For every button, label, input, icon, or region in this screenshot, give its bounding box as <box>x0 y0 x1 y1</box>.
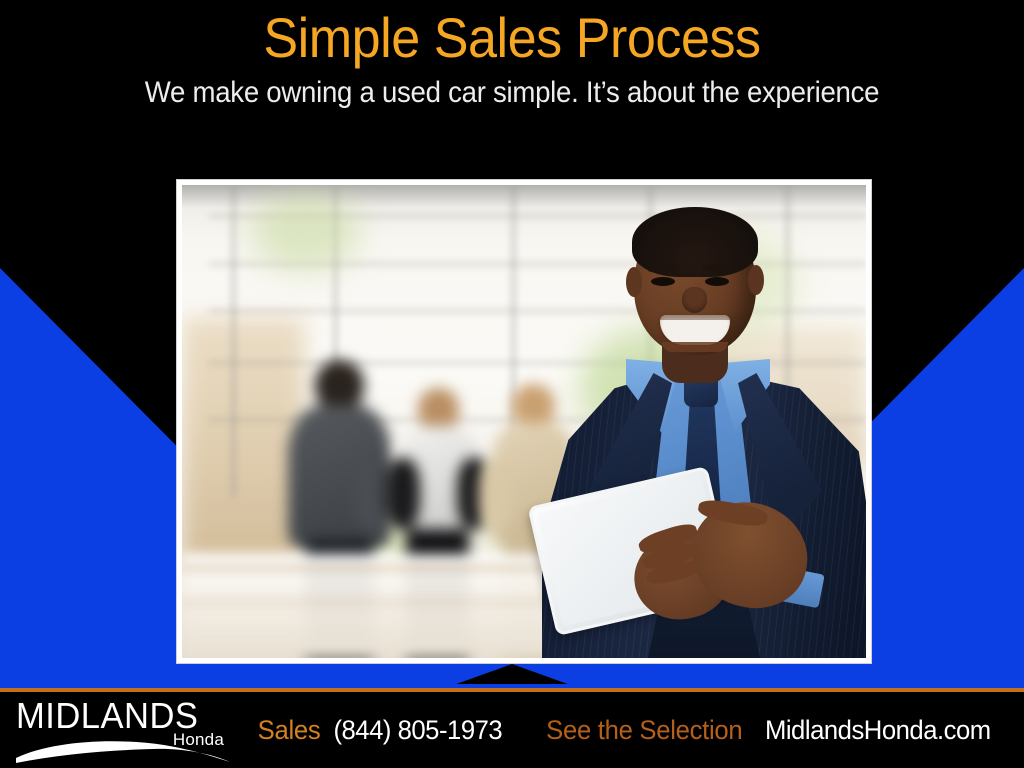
page-subtitle: We make owning a used car simple. It’s a… <box>41 76 983 110</box>
sales-phone-link[interactable]: (844) 805-1973 <box>333 715 502 746</box>
eye-right <box>705 277 729 286</box>
eye-left <box>651 277 675 286</box>
see-the-selection-label: See the Selection <box>546 715 742 746</box>
ear-left <box>626 267 642 297</box>
window-mullion <box>230 185 237 497</box>
nose <box>682 287 707 313</box>
hero-photo <box>182 185 866 658</box>
page-title: Simple Sales Process <box>36 0 988 68</box>
hero-photo-frame <box>177 180 871 663</box>
dealer-logo[interactable]: MIDLANDS Honda <box>16 698 230 762</box>
logo-wordmark: MIDLANDS <box>16 698 221 734</box>
logo-swoosh-icon <box>14 738 232 764</box>
ear-right <box>748 265 764 295</box>
advertisement-slide: Simple Sales Process We make owning a us… <box>0 0 1024 768</box>
footer-bar: MIDLANDS Honda Sales (844) 805-1973 See … <box>0 692 1024 768</box>
foliage-blob <box>250 194 359 270</box>
businessman-figure <box>542 203 866 658</box>
contact-block: Sales (844) 805-1973 See the Selection M… <box>256 692 1014 768</box>
lower-lip <box>662 342 728 352</box>
sales-label: Sales <box>258 715 321 746</box>
headline-block: Simple Sales Process We make owning a us… <box>0 0 1024 140</box>
smiling-mouth <box>660 315 730 345</box>
website-link[interactable]: MidlandsHonda.com <box>765 715 991 746</box>
